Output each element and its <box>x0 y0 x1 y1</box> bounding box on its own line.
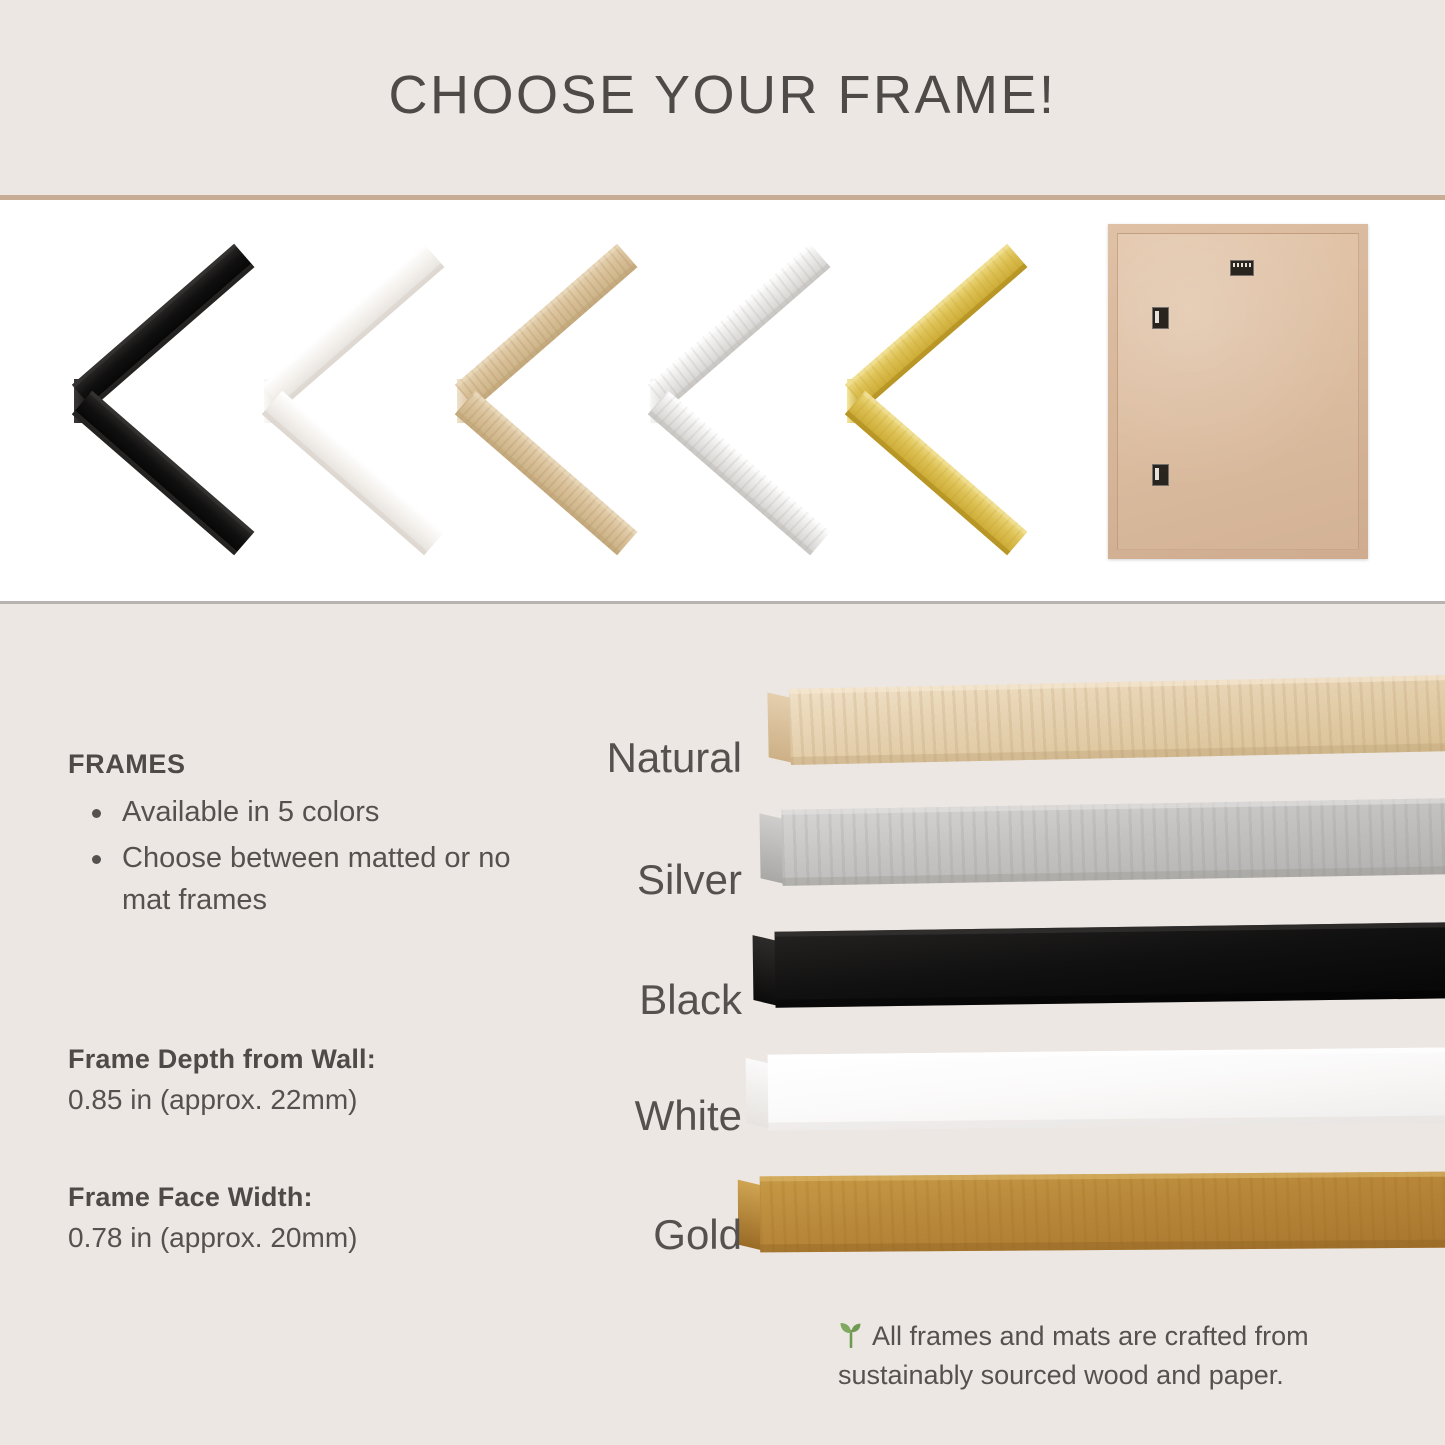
stack-bar-natural <box>789 675 1445 765</box>
spec-value: 0.85 in (approx. 22mm) <box>68 1084 538 1116</box>
frame-arm-bottom <box>845 391 1028 555</box>
stack-bar-black <box>775 922 1445 1007</box>
white-frame-corner <box>262 255 462 545</box>
frame-arm-bottom <box>455 391 638 555</box>
list-item-text: Choose between matted or no mat frames <box>122 842 511 916</box>
page-title: CHOOSE YOUR FRAME! <box>388 64 1056 126</box>
silver-frame-corner <box>648 255 848 545</box>
gold-frame-corner <box>845 255 1045 545</box>
eco-note-line1: All frames and mats are crafted from <box>872 1321 1309 1351</box>
side-hanger-lower-icon <box>1152 464 1169 486</box>
frame-arm-top <box>262 244 445 408</box>
frame-back-panel <box>1108 224 1368 559</box>
frame-arm-top <box>455 244 638 408</box>
black-frame-corner <box>72 255 272 545</box>
frames-heading: FRAMES <box>68 749 538 780</box>
stack-bar-gold <box>760 1172 1445 1253</box>
color-label-white: White <box>635 1092 742 1140</box>
frames-bullet-list: Available in 5 colors Choose between mat… <box>68 792 538 921</box>
frames-info-block: FRAMES Available in 5 colors Choose betw… <box>68 749 538 925</box>
eco-note: All frames and mats are crafted from sus… <box>838 1318 1398 1394</box>
frame-arm-bottom <box>262 391 445 555</box>
list-item: Available in 5 colors <box>68 792 538 834</box>
infographic-page: CHOOSE YOUR FRAME! <box>0 0 1445 1445</box>
color-label-silver: Silver <box>637 856 742 904</box>
frame-arm-top <box>648 244 831 408</box>
spec-frame-face-width: Frame Face Width: 0.78 in (approx. 20mm) <box>68 1182 538 1254</box>
color-label-gold: Gold <box>653 1211 742 1259</box>
list-item: Choose between matted or no mat frames <box>68 838 538 922</box>
list-item-text: Available in 5 colors <box>122 796 379 828</box>
spec-frame-depth: Frame Depth from Wall: 0.85 in (approx. … <box>68 1044 538 1116</box>
color-label-natural: Natural <box>607 734 742 782</box>
spec-label: Frame Depth from Wall: <box>68 1044 538 1075</box>
eco-note-line2: sustainably sourced wood and paper. <box>838 1360 1284 1390</box>
spec-value: 0.78 in (approx. 20mm) <box>68 1222 538 1254</box>
bullet-dot-icon <box>92 855 101 864</box>
spec-label: Frame Face Width: <box>68 1182 538 1213</box>
header-banner: CHOOSE YOUR FRAME! <box>0 0 1445 195</box>
frame-arm-bottom <box>72 391 255 555</box>
stack-bar-silver <box>781 798 1445 886</box>
sawtooth-hanger-icon <box>1230 260 1254 276</box>
color-label-black: Black <box>639 976 742 1024</box>
natural-frame-corner <box>455 255 655 545</box>
frame-arm-top <box>72 244 255 408</box>
backing-board <box>1117 233 1359 550</box>
side-hanger-upper-icon <box>1152 307 1169 329</box>
stack-bar-white <box>768 1047 1445 1130</box>
sprout-icon <box>838 1320 864 1357</box>
bullet-dot-icon <box>92 809 101 818</box>
frame-arm-bottom <box>648 391 831 555</box>
frame-arm-top <box>845 244 1028 408</box>
